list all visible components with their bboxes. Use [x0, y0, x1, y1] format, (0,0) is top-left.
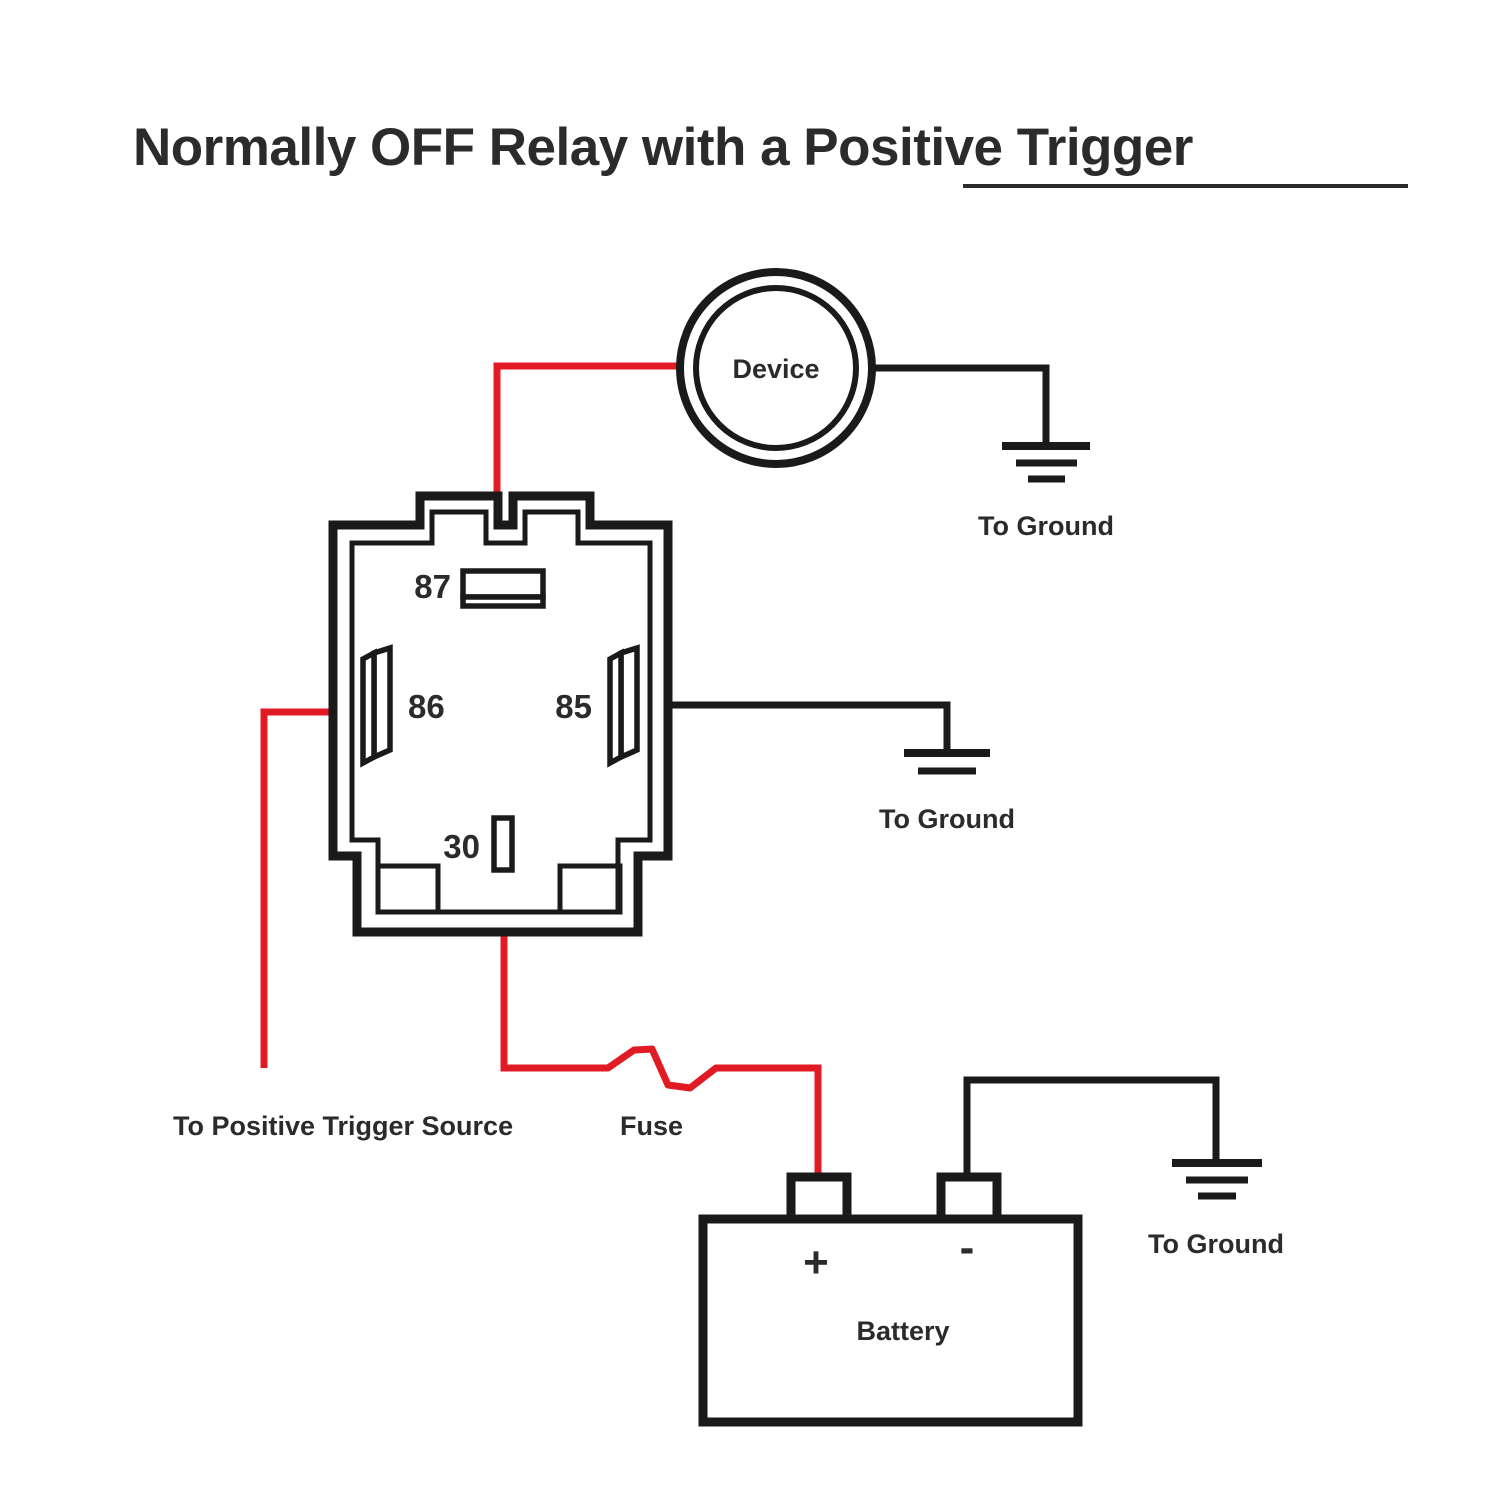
battery-negative-terminal	[941, 1177, 997, 1221]
relay-body: 87 86 85 30	[333, 496, 668, 932]
ground-symbol-relay85: To Ground	[879, 753, 1015, 834]
terminal-86-label: 86	[408, 688, 445, 725]
page-title: Normally OFF Relay with a Positive Trigg…	[133, 118, 1193, 177]
terminal-85-label: 85	[555, 688, 592, 725]
wire-device-to-ground	[872, 368, 1046, 446]
ground-relay85-label: To Ground	[879, 804, 1015, 834]
trigger-source-label: To Positive Trigger Source	[173, 1111, 513, 1141]
terminal-86-blade-face	[363, 653, 374, 763]
terminal-87-blade-face	[463, 571, 543, 597]
battery-positive-terminal	[791, 1177, 847, 1221]
ground-symbol-device: To Ground	[978, 446, 1114, 541]
relay-terminal-87: 87	[414, 568, 543, 606]
fuse-zigzag-symbol	[608, 1049, 716, 1088]
terminal-30-label: 30	[443, 828, 480, 865]
battery-plus-label: +	[803, 1238, 829, 1287]
wire-fuse-to-battery-positive	[716, 1068, 818, 1178]
fuse-label: Fuse	[620, 1111, 683, 1141]
terminal-30-blade	[494, 818, 512, 870]
terminal-87-blade-edge	[463, 597, 543, 606]
device-label: Device	[732, 354, 819, 384]
ground-device-label: To Ground	[978, 511, 1114, 541]
terminal-85-blade-face	[610, 653, 621, 763]
device-component: Device	[680, 272, 872, 464]
battery-label: Battery	[856, 1316, 949, 1346]
diagram-canvas: Normally OFF Relay with a Positive Trigg…	[0, 0, 1500, 1500]
battery-minus-label: -	[960, 1223, 975, 1272]
relay-wiring-diagram: Normally OFF Relay with a Positive Trigg…	[0, 0, 1500, 1500]
terminal-87-label: 87	[414, 568, 451, 605]
ground-battery-label: To Ground	[1148, 1229, 1284, 1259]
ground-symbol-battery: To Ground	[1148, 1163, 1284, 1259]
battery-component: + - Battery	[703, 1177, 1078, 1422]
